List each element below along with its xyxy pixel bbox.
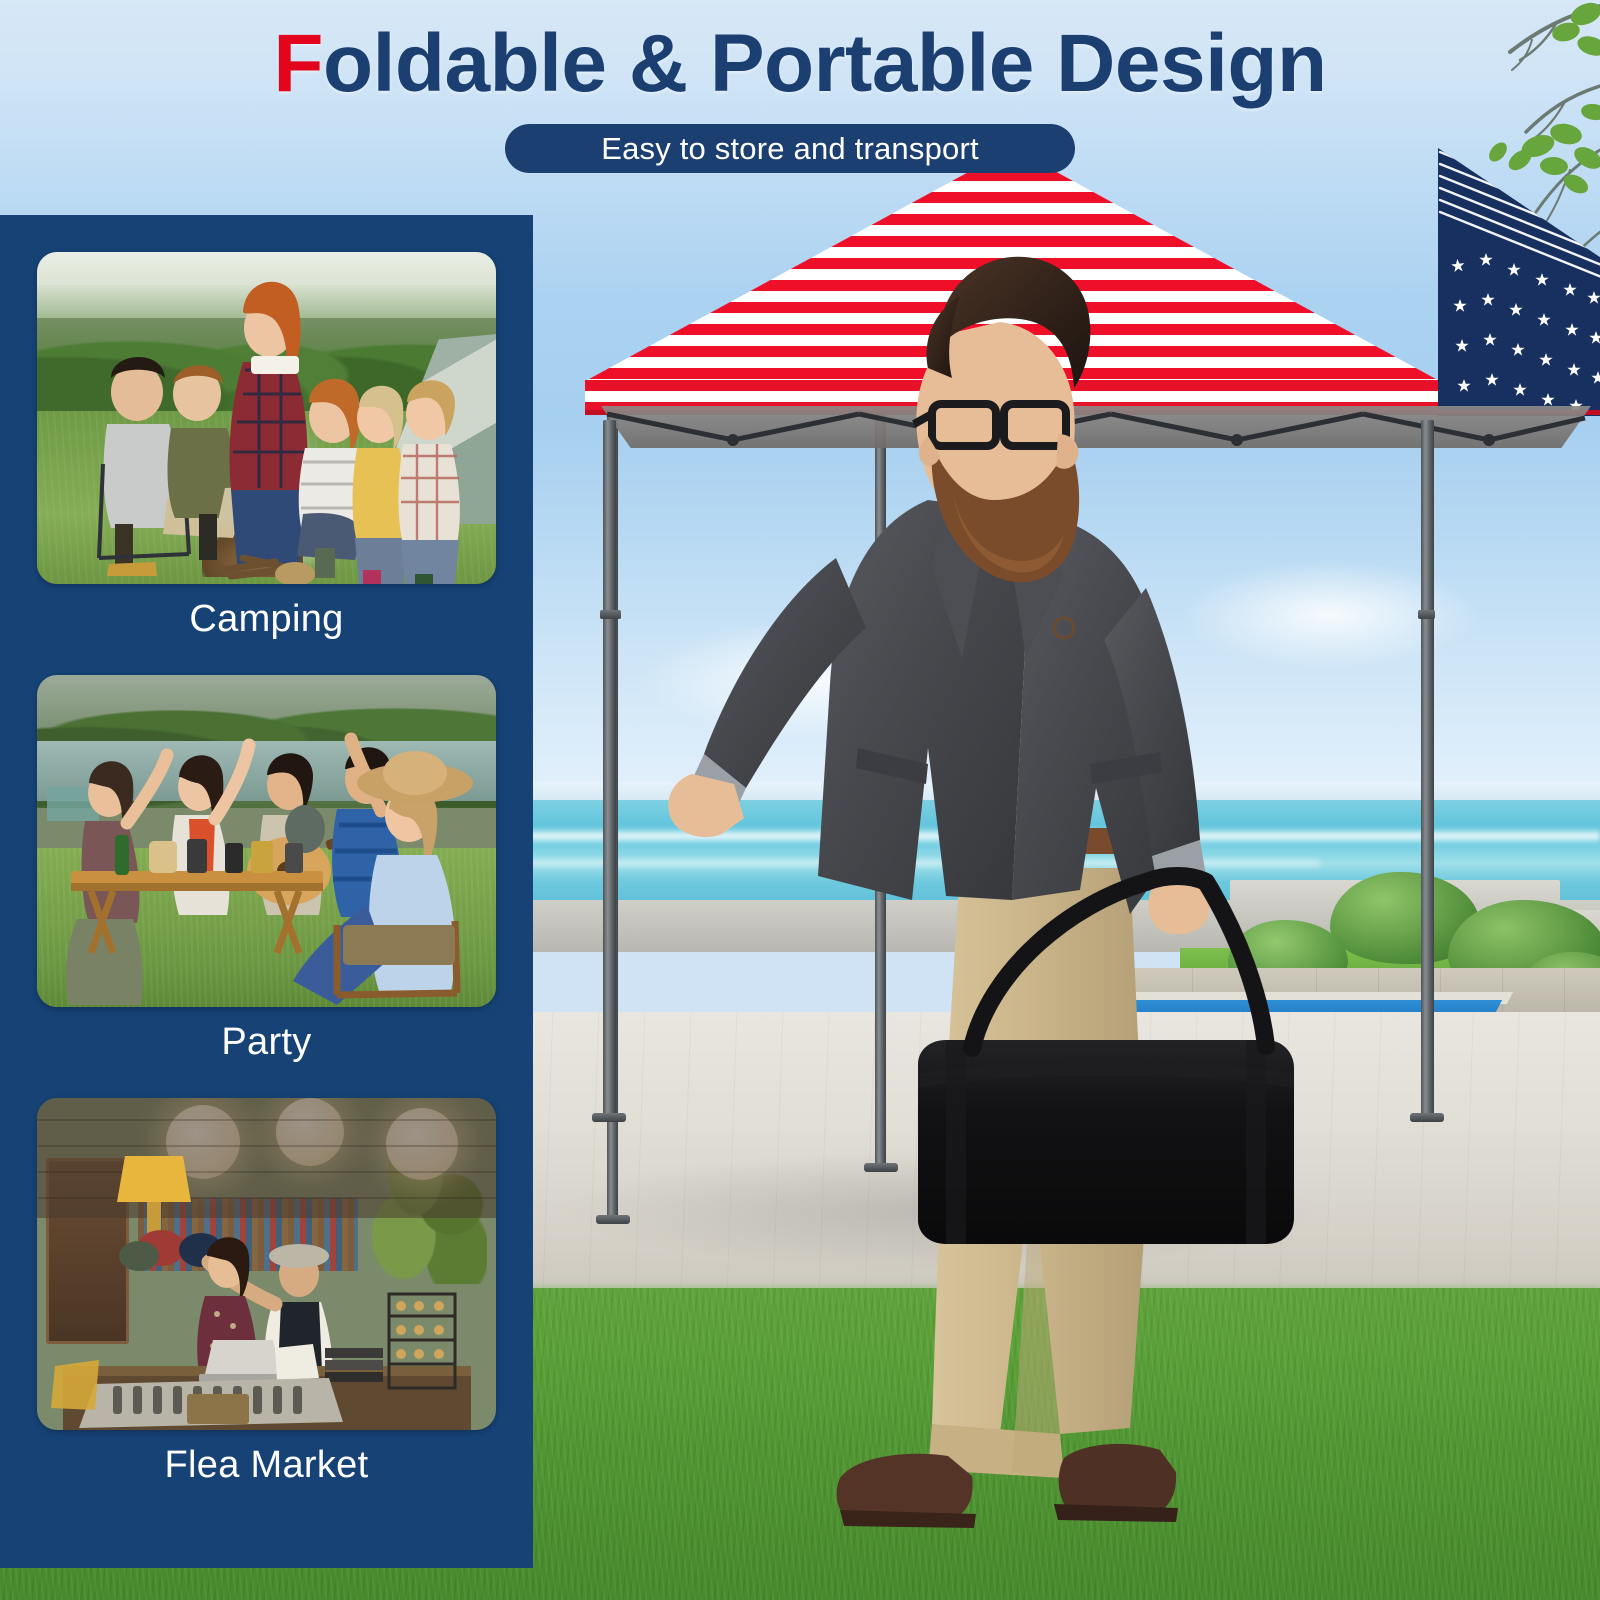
use-case-sidebar: Camping bbox=[0, 215, 533, 1568]
use-case-card-camping[interactable]: Camping bbox=[37, 252, 496, 641]
use-case-card-flea-market[interactable]: Flea Market bbox=[37, 1098, 496, 1487]
party-photo bbox=[37, 675, 496, 1007]
leg-foot-plate bbox=[1410, 1113, 1444, 1122]
leg-height-lock bbox=[1418, 610, 1435, 619]
leg-foot-plate bbox=[596, 1215, 630, 1224]
use-case-label-flea-market: Flea Market bbox=[37, 1444, 496, 1487]
leg-height-lock bbox=[600, 610, 617, 619]
flea-market-photo bbox=[37, 1098, 496, 1430]
title-accent-letter: F bbox=[273, 18, 323, 109]
canopy-leg-front-left bbox=[603, 420, 616, 1120]
subtitle-text: Easy to store and transport bbox=[601, 131, 979, 167]
model-carrying-canopy bbox=[660, 228, 1400, 1558]
leg-foot-plate bbox=[592, 1113, 626, 1122]
use-case-card-party[interactable]: Party bbox=[37, 675, 496, 1064]
page-title: Foldable & Portable Design bbox=[0, 20, 1600, 109]
subtitle-badge: Easy to store and transport bbox=[505, 124, 1075, 173]
model-jacket bbox=[692, 496, 1206, 914]
title-rest: oldable & Portable Design bbox=[323, 18, 1327, 109]
camping-photo bbox=[37, 252, 496, 584]
use-case-label-camping: Camping bbox=[37, 598, 496, 641]
star-pattern-icon bbox=[1438, 148, 1600, 416]
use-case-label-party: Party bbox=[37, 1021, 496, 1064]
canopy-leg-front-right bbox=[1421, 420, 1434, 1120]
